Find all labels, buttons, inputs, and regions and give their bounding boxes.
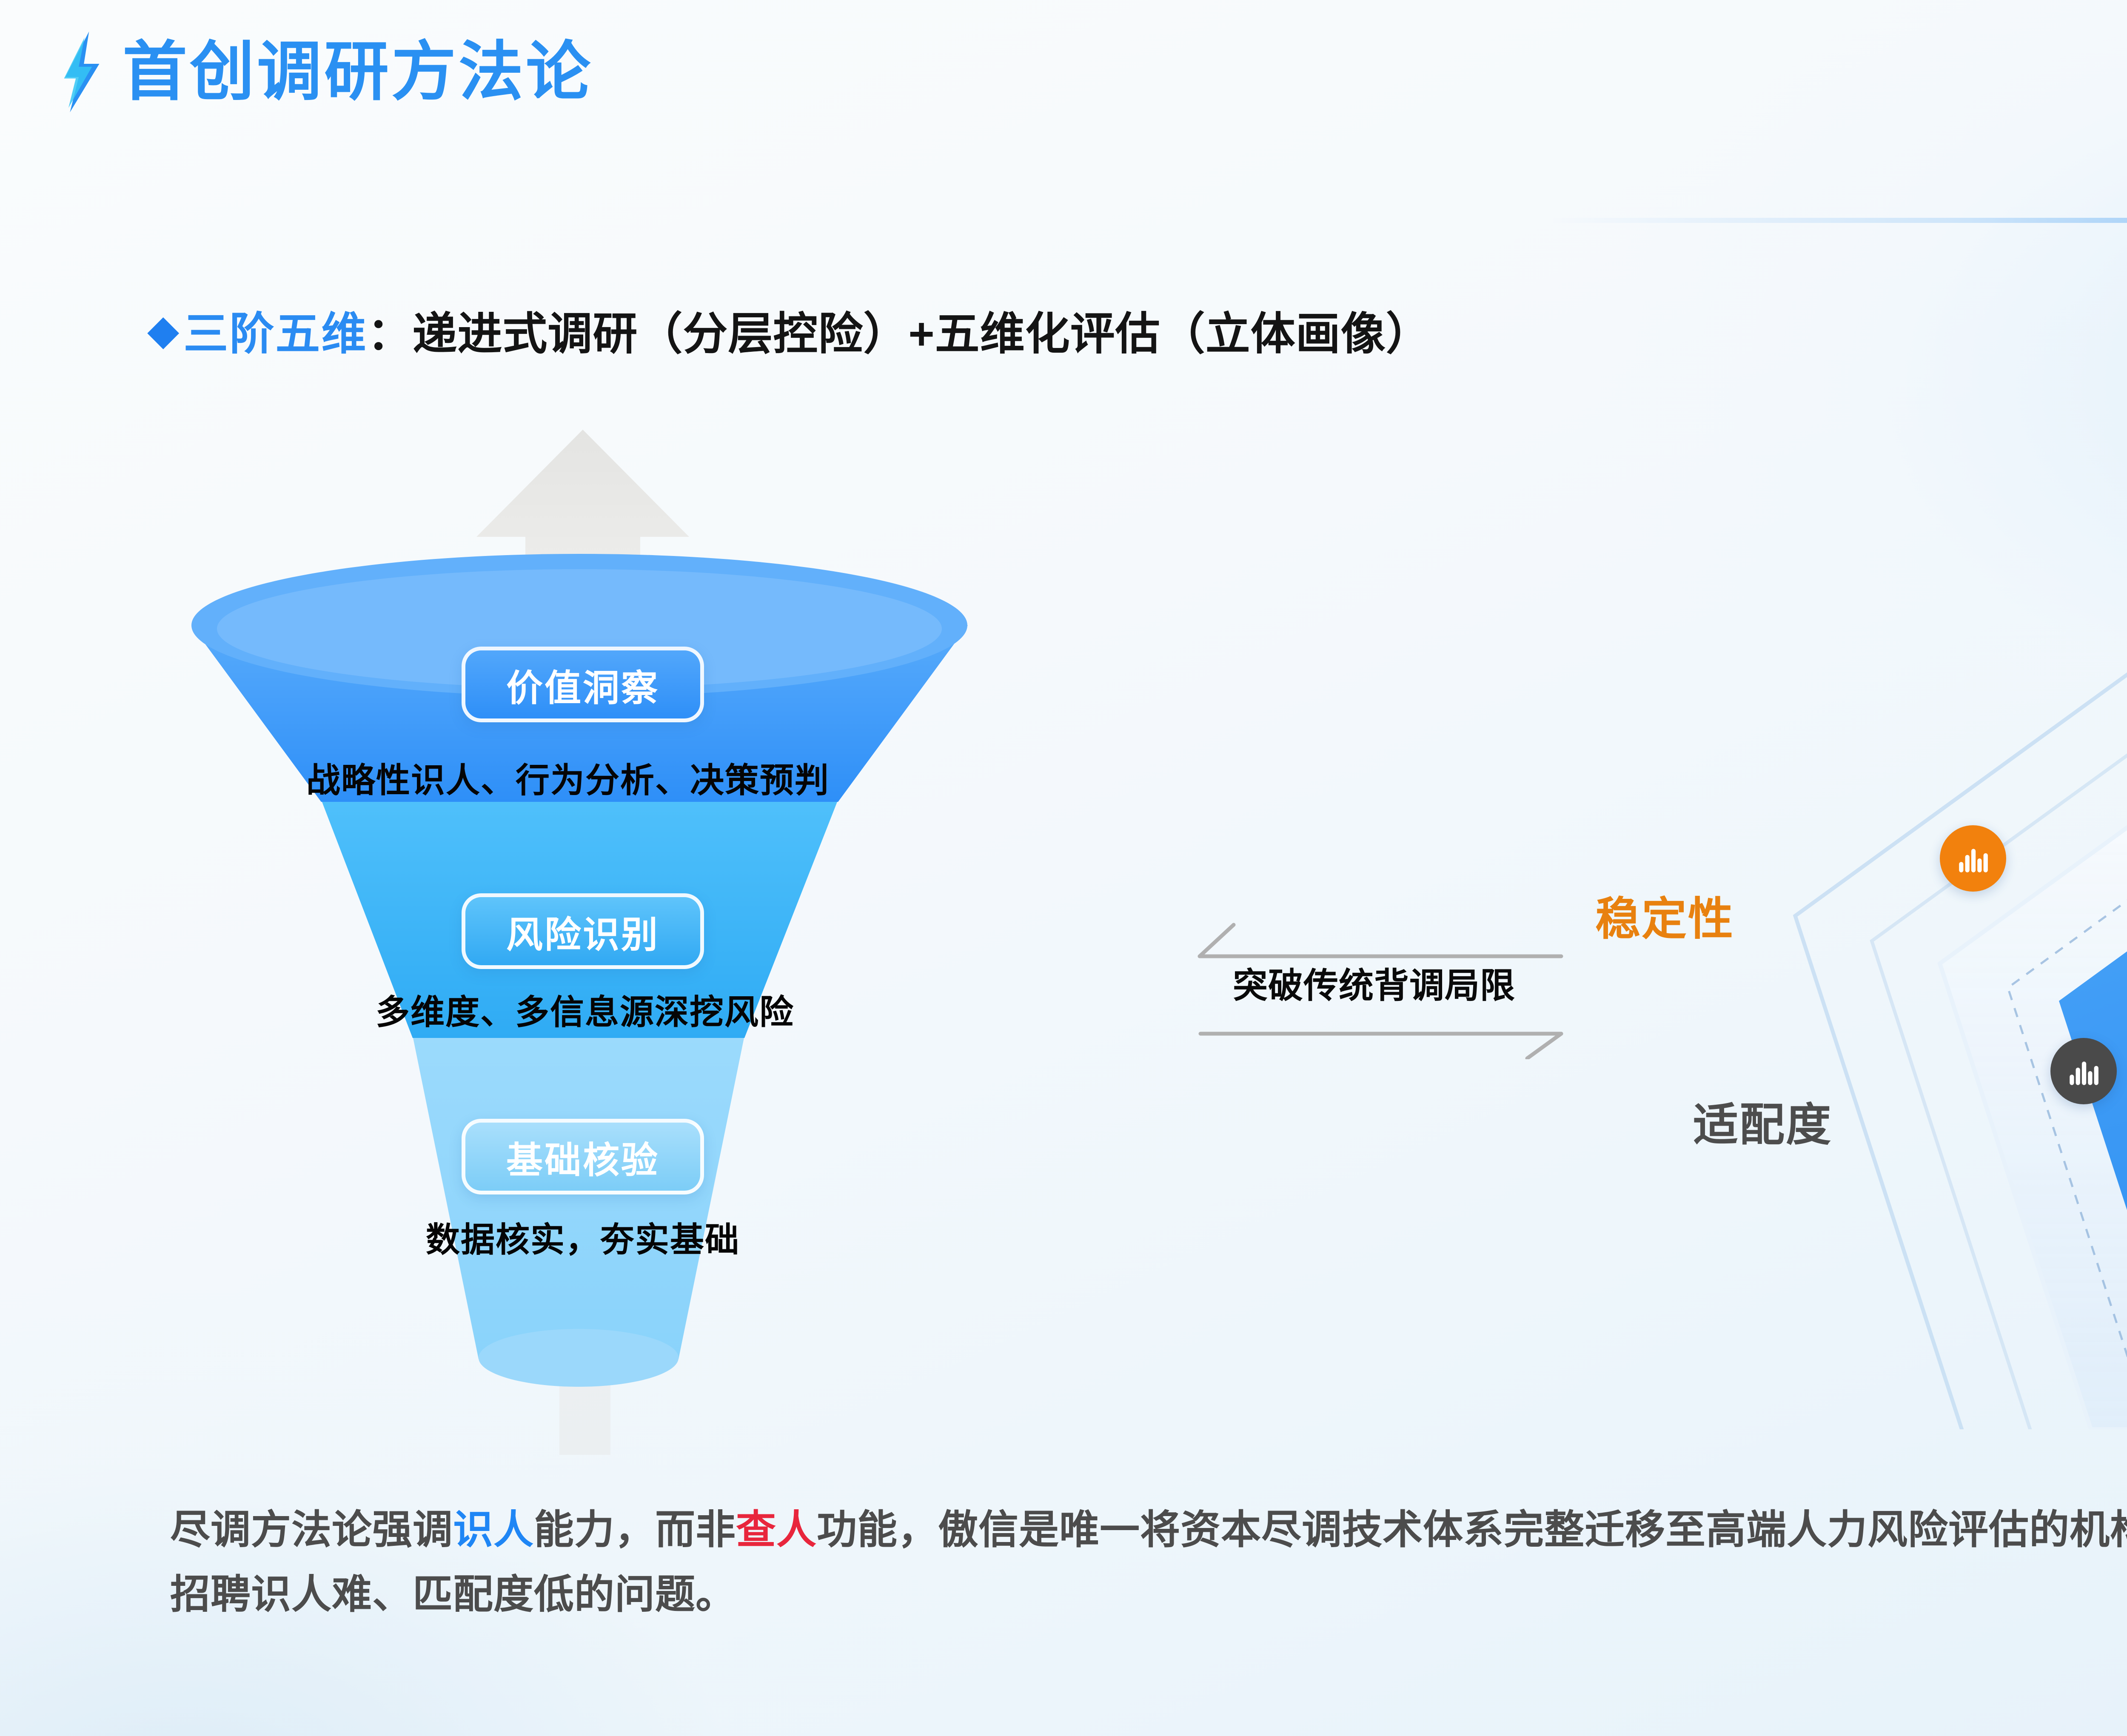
pentagon-center-label: 能力 [2106, 881, 2127, 998]
subtitle-separator: ： [367, 298, 412, 362]
page-title-text: 首创调研方法论 [123, 40, 593, 104]
subtitle-rest: 递进式调研（分层控险）+五维化评估（立体画像） [412, 298, 1431, 362]
funnel-diagram: 价值洞察 战略性识人、行为分析、决策预判 风险识别 多维度、多信息源深挖风险 基… [140, 425, 1191, 1455]
connector-label: 突破传统背调局限 [1166, 957, 1582, 1008]
bar-chart-icon [2066, 1054, 2101, 1089]
page-title: 首创调研方法论 [59, 31, 593, 112]
slide-canvas: 首创调研方法论 傲信 ◆ 三阶五维 ： 递进式调研（分层控险）+五维化评估（立体… [0, 0, 2127, 1736]
funnel-stage-3-label: 基础核验 [506, 1130, 659, 1183]
connector-annotation: 突破传统背调局限 [1166, 906, 1582, 1059]
summary-highlight-blue: 识人 [453, 1507, 534, 1552]
pentagon-radar-diagram: 能力 [1642, 451, 2127, 1429]
funnel-stage-2-desc: 多维度、多信息源深挖风险 [174, 985, 995, 1034]
dimension-label-fit: 适配度 [1693, 1088, 1832, 1154]
summary-paragraph: 尽调方法论强调识人能力，而非查人功能，傲信是唯一将资本尽调技术体系完整迁移至高端… [170, 1497, 2127, 1627]
diamond-bullet-icon: ◆ [147, 306, 179, 354]
funnel-stage-3-desc: 数据核实，夯实基础 [191, 1212, 974, 1262]
summary-highlight-red: 查人 [736, 1507, 817, 1552]
funnel-stage-1-desc: 战略性识人、行为分析、决策预判 [140, 753, 995, 802]
summary-part-2: 能力，而非 [534, 1507, 736, 1552]
summary-part-1: 尽调方法论强调 [170, 1507, 453, 1552]
funnel-stage-2-pill[interactable]: 风险识别 [462, 893, 704, 969]
bar-chart-icon [1956, 841, 1990, 876]
subtitle: ◆ 三阶五维 ： 递进式调研（分层控险）+五维化评估（立体画像） [147, 298, 1431, 362]
funnel-stage-3-pill[interactable]: 基础核验 [462, 1119, 704, 1194]
subtitle-highlight: 三阶五维 [183, 298, 367, 362]
dimension-label-stable: 稳定性 [1595, 882, 1734, 948]
dimension-node-stable[interactable] [1940, 825, 2006, 892]
funnel-stage-2-label: 风险识别 [506, 905, 659, 958]
header-divider [1548, 218, 2127, 223]
funnel-stage-1-pill[interactable]: 价值洞察 [462, 647, 704, 722]
funnel-stage-1-label: 价值洞察 [506, 658, 659, 711]
lightning-bolt-icon [59, 31, 105, 112]
dimension-node-fit[interactable] [2050, 1038, 2117, 1104]
